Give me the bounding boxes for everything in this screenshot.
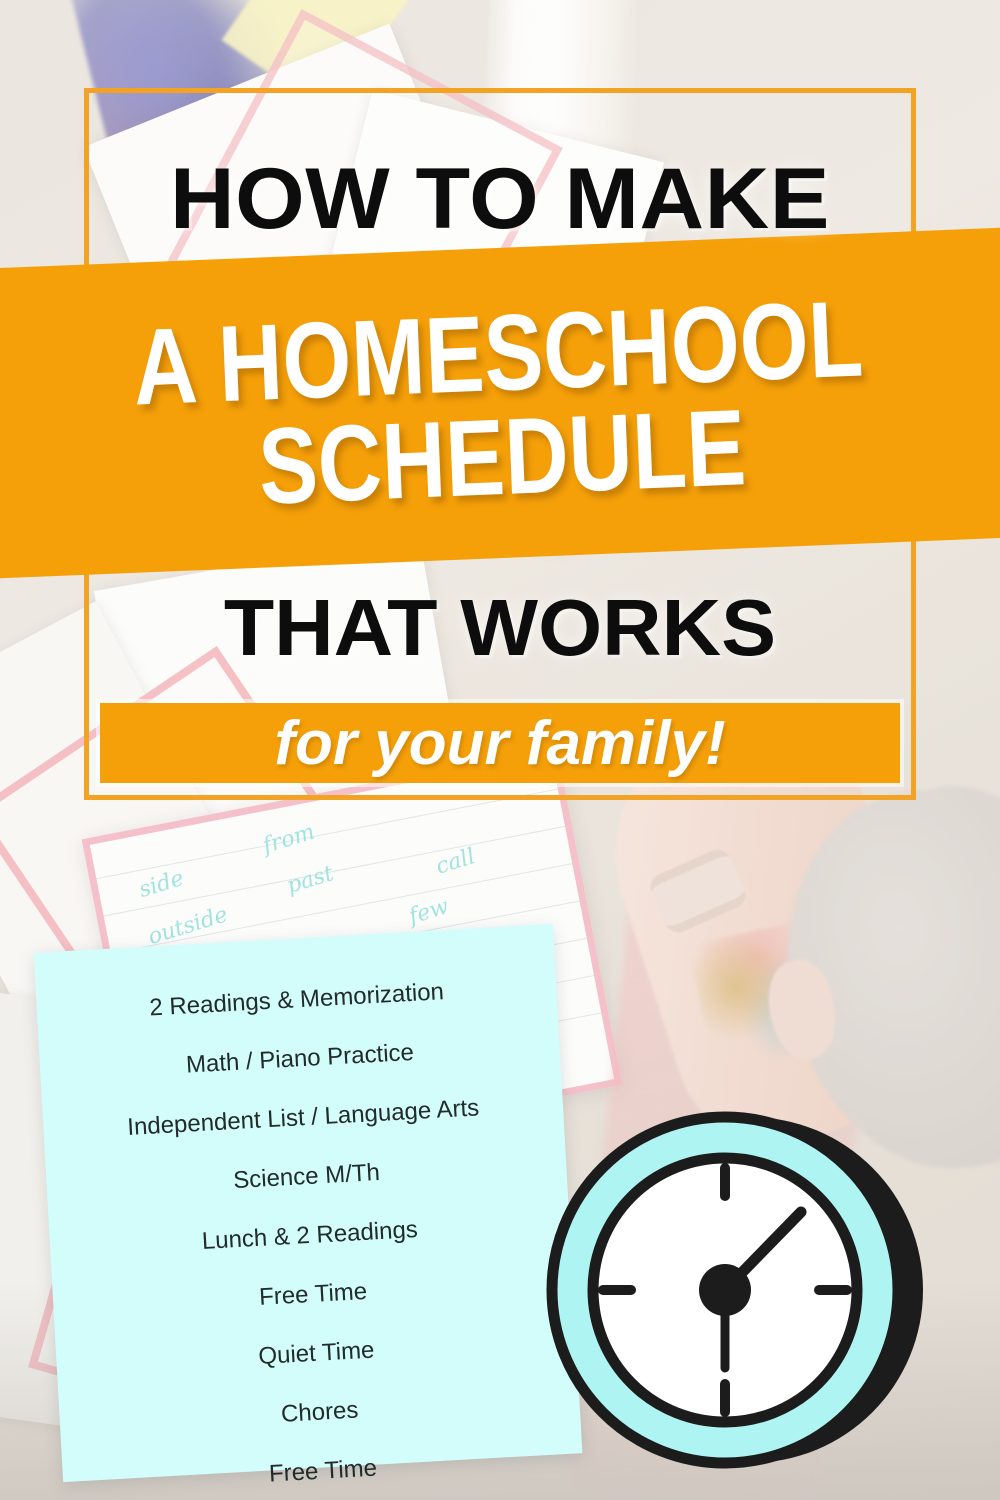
- list-item: Lunch & 2 Readings: [69, 1209, 550, 1264]
- headline-line-4: THAT WORKS: [0, 582, 1000, 674]
- list-item: Math / Piano Practice: [60, 1032, 541, 1087]
- pinterest-pin-graphic: side outside inside from past few call n…: [0, 0, 1000, 1500]
- clock-svg: [545, 1100, 925, 1480]
- list-item: 2 Readings & Memorization: [56, 973, 537, 1028]
- list-item: Free Time: [83, 1444, 564, 1499]
- list-item: Free Time: [73, 1267, 554, 1322]
- clock-icon: [545, 1100, 925, 1480]
- list-item: Science M/Th: [66, 1150, 547, 1205]
- list-item: Quiet Time: [76, 1326, 557, 1381]
- headline-line-1: HOW TO MAKE: [0, 150, 1000, 249]
- headline-banner-text: A HOMESCHOOL SCHEDULE: [0, 229, 1000, 580]
- headline-line-5: for your family!: [100, 703, 900, 783]
- list-item: Independent List / Language Arts: [63, 1091, 544, 1146]
- list-item: Chores: [79, 1385, 560, 1440]
- schedule-card: 2 Readings & Memorization Math / Piano P…: [34, 924, 583, 1482]
- headline-line-3: SCHEDULE: [257, 395, 748, 518]
- clock-center-hub: [699, 1264, 751, 1316]
- schedule-list: 2 Readings & Memorization Math / Piano P…: [34, 924, 587, 1500]
